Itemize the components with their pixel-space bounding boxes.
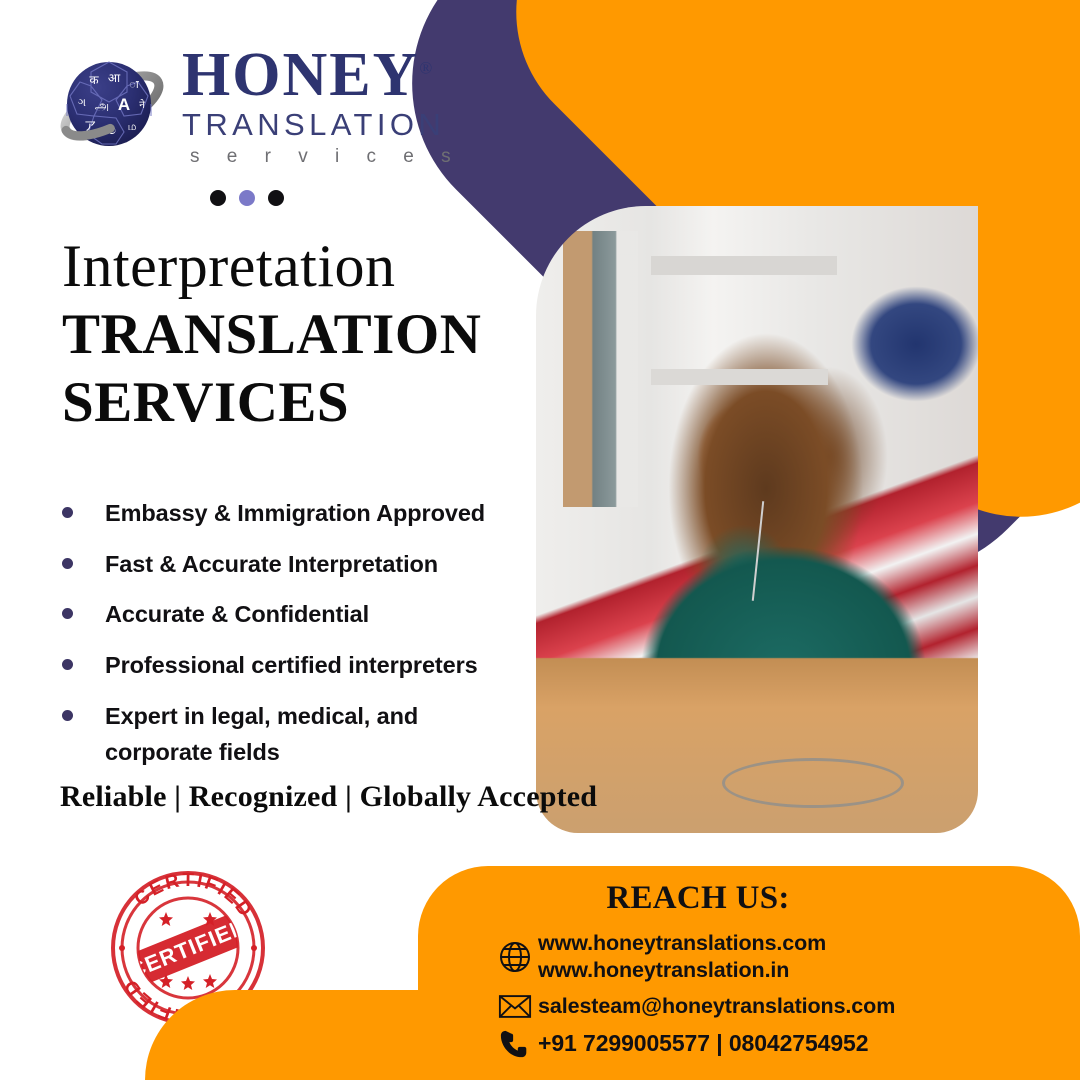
headline-script: Interpretation bbox=[62, 234, 481, 299]
decorative-dots bbox=[210, 190, 284, 206]
brand-logo[interactable]: क आ ा ગ அ A ने ア ಅ ம HONEY® TRANSLATION bbox=[58, 46, 462, 168]
photo-shelf-detail bbox=[651, 256, 837, 275]
list-item: Fast & Accurate Interpretation bbox=[56, 547, 526, 583]
bullet-icon bbox=[62, 608, 73, 619]
list-item: Expert in legal, medical, and corporate … bbox=[56, 699, 526, 770]
hero-photo bbox=[536, 206, 978, 833]
email-text: salesteam@honeytranslations.com bbox=[538, 993, 895, 1020]
globe-icon bbox=[492, 940, 538, 974]
dot-3 bbox=[268, 190, 284, 206]
contact-email[interactable]: salesteam@honeytranslations.com bbox=[492, 993, 895, 1020]
dot-2 bbox=[239, 190, 255, 206]
brand-name-text: HONEY bbox=[182, 41, 419, 109]
svg-text:क: क bbox=[89, 73, 99, 87]
features-list: Embassy & Immigration Approved Fast & Ac… bbox=[56, 496, 526, 785]
contact-website-text: www.honeytranslations.com www.honeytrans… bbox=[538, 930, 826, 985]
svg-text:आ: आ bbox=[108, 71, 121, 85]
globe-languages-icon: क आ ा ગ அ A ने ア ಅ ம bbox=[58, 48, 166, 166]
phone-icon bbox=[492, 1028, 538, 1060]
list-item-label: Embassy & Immigration Approved bbox=[105, 496, 485, 532]
list-item-label: Professional certified interpreters bbox=[105, 648, 478, 684]
svg-text:ગ: ગ bbox=[78, 97, 86, 109]
bullet-icon bbox=[62, 507, 73, 518]
list-item-label: Accurate & Confidential bbox=[105, 597, 369, 633]
brand-line-translation: TRANSLATION bbox=[182, 106, 462, 145]
website-line-1: www.honeytranslations.com bbox=[538, 930, 826, 957]
brand-line-services: s e r v i c e s bbox=[182, 146, 462, 168]
contact-footer: REACH US: www.honeytranslations.com www.… bbox=[0, 866, 1080, 1080]
registered-mark-icon: ® bbox=[419, 58, 434, 77]
svg-text:A: A bbox=[118, 95, 130, 114]
svg-text:ம: ம bbox=[128, 121, 137, 133]
contact-website[interactable]: www.honeytranslations.com www.honeytrans… bbox=[492, 930, 895, 985]
svg-text:ा: ा bbox=[129, 79, 139, 91]
dot-1 bbox=[210, 190, 226, 206]
contact-phone[interactable]: +91 7299005577 | 08042754952 bbox=[492, 1028, 895, 1060]
photo-eyeglasses bbox=[722, 758, 905, 808]
photo-shelf-detail bbox=[563, 231, 638, 507]
list-item-label: Expert in legal, medical, and corporate … bbox=[105, 699, 455, 770]
page-title: Interpretation TRANSLATION SERVICES bbox=[62, 234, 481, 434]
hero-photo-image bbox=[536, 206, 978, 833]
headline-bold-line2: SERVICES bbox=[62, 371, 481, 435]
svg-text:ने: ने bbox=[139, 99, 145, 111]
headline-bold-line1: TRANSLATION bbox=[62, 303, 481, 367]
list-item: Professional certified interpreters bbox=[56, 648, 526, 684]
svg-text:அ: அ bbox=[95, 98, 109, 113]
brand-name: HONEY® bbox=[182, 46, 462, 106]
bullet-icon bbox=[62, 659, 73, 670]
tagline: Reliable | Recognized | Globally Accepte… bbox=[60, 780, 597, 814]
list-item-label: Fast & Accurate Interpretation bbox=[105, 547, 438, 583]
bullet-icon bbox=[62, 710, 73, 721]
bullet-icon bbox=[62, 558, 73, 569]
phone-text: +91 7299005577 | 08042754952 bbox=[538, 1029, 868, 1058]
brand-wordmark: HONEY® TRANSLATION s e r v i c e s bbox=[182, 46, 462, 168]
reach-us-heading: REACH US: bbox=[418, 880, 978, 917]
list-item: Accurate & Confidential bbox=[56, 597, 526, 633]
poster-canvas: क आ ा ગ அ A ने ア ಅ ம HONEY® TRANSLATION bbox=[0, 0, 1080, 1080]
website-line-2: www.honeytranslation.in bbox=[538, 957, 826, 984]
photo-shelf-detail bbox=[651, 369, 828, 385]
photo-earphone-cable bbox=[752, 501, 764, 601]
envelope-icon bbox=[492, 993, 538, 1020]
contact-list: www.honeytranslations.com www.honeytrans… bbox=[492, 930, 895, 1068]
list-item: Embassy & Immigration Approved bbox=[56, 496, 526, 532]
